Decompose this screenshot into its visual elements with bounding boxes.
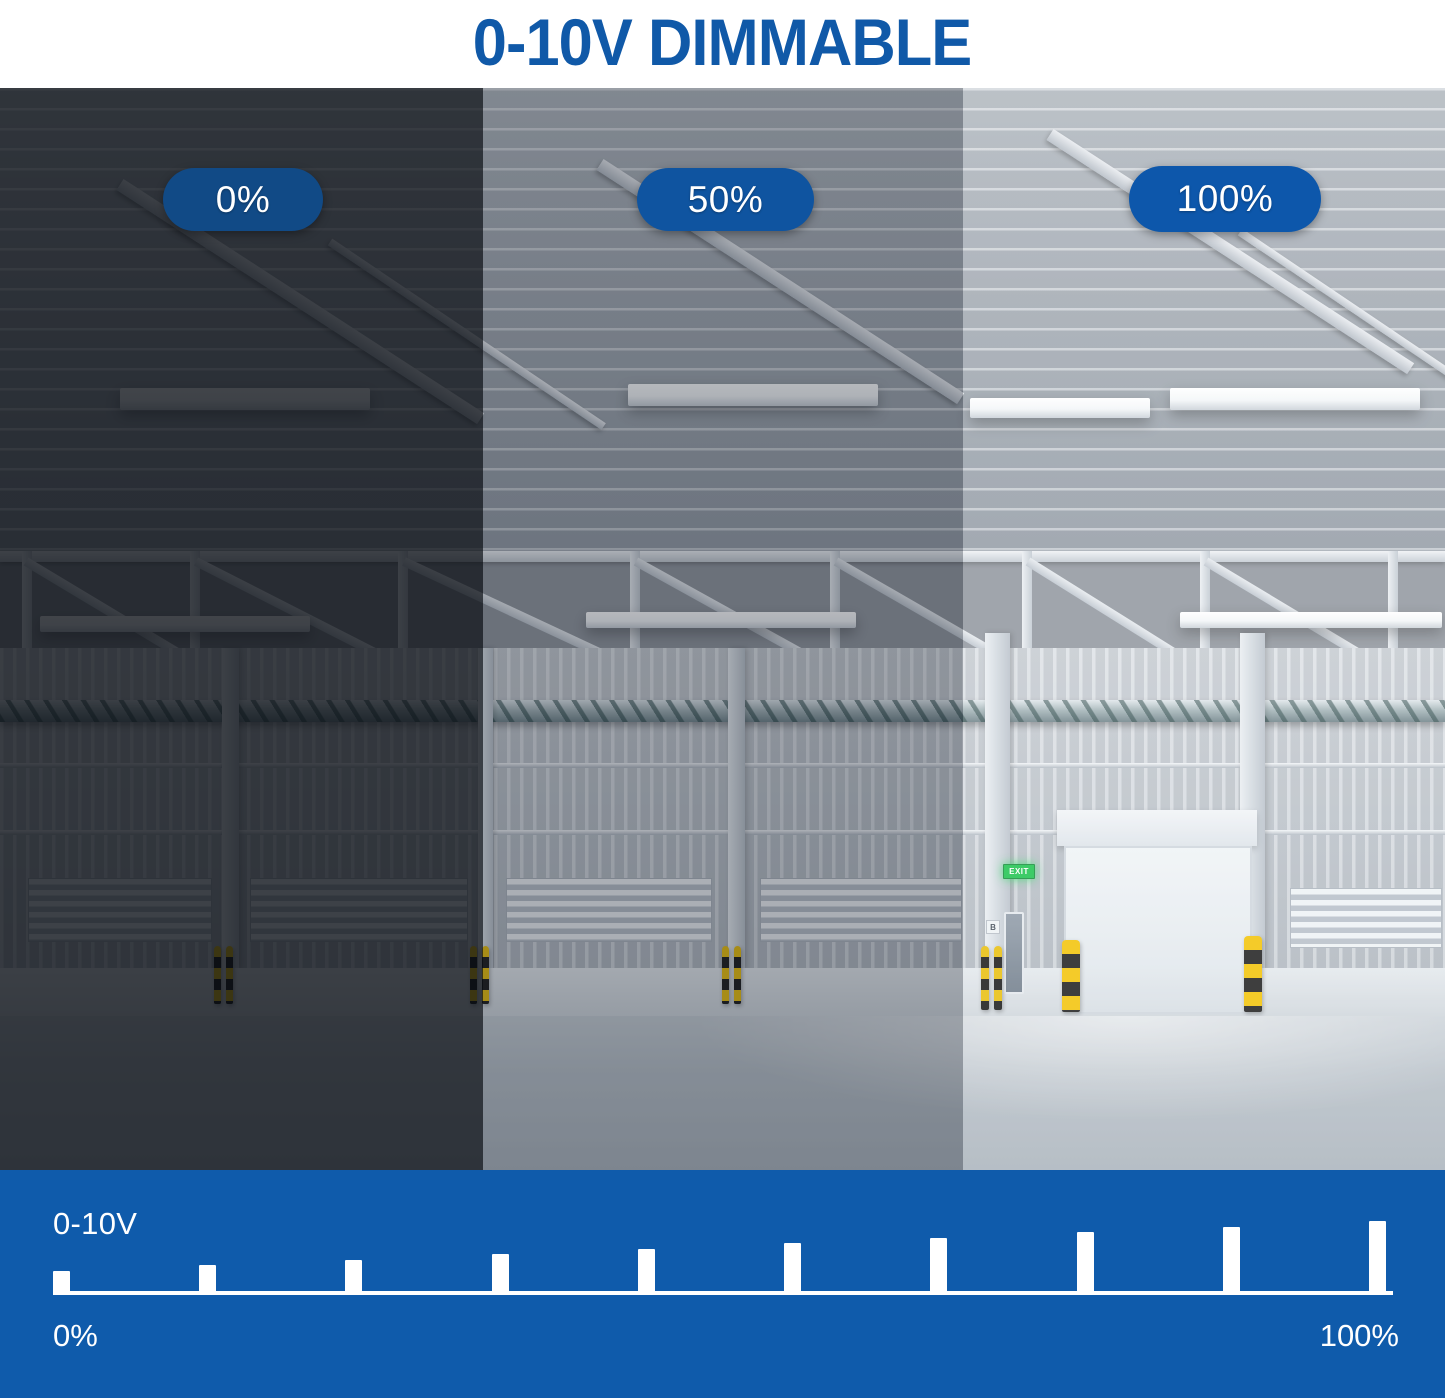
safety-bollard bbox=[722, 946, 729, 1004]
safety-bollard bbox=[734, 946, 741, 1004]
truss-chord bbox=[0, 551, 1445, 562]
floor-light-reflection bbox=[0, 1016, 1445, 1170]
structural-column bbox=[222, 648, 239, 970]
safety-bollard bbox=[981, 946, 989, 1010]
structural-column bbox=[728, 648, 745, 970]
led-fixture bbox=[586, 612, 856, 628]
ceiling-deck bbox=[0, 88, 1445, 558]
wall-rail bbox=[0, 763, 1445, 768]
wall-louver-panel bbox=[506, 878, 712, 942]
brightness-badge-100[interactable]: 100% bbox=[1129, 166, 1321, 232]
led-fixture bbox=[628, 384, 878, 406]
header-bar: 0-10V DIMMABLE bbox=[0, 0, 1445, 88]
structural-column bbox=[478, 648, 493, 970]
dock-roll-up-door bbox=[1064, 846, 1252, 1014]
scale-baseline bbox=[53, 1291, 1393, 1295]
tray-hatching bbox=[0, 700, 1445, 722]
scale-tick bbox=[1223, 1227, 1240, 1294]
badge-label: 100% bbox=[1177, 178, 1274, 220]
warehouse-scene: EXIT B bbox=[0, 88, 1445, 1170]
page-title: 0-10V DIMMABLE bbox=[473, 9, 972, 75]
scale-tick bbox=[1369, 1221, 1386, 1293]
badge-label: 50% bbox=[688, 179, 764, 221]
scale-tick bbox=[1077, 1232, 1094, 1293]
scale-max-label: 100% bbox=[1320, 1318, 1399, 1354]
wall-louver-panel bbox=[28, 878, 212, 942]
safety-bollard bbox=[482, 946, 489, 1004]
wall-louver-panel bbox=[760, 878, 962, 942]
badge-label: 0% bbox=[216, 179, 270, 221]
scale-title: 0-10V bbox=[53, 1206, 137, 1242]
truss-post bbox=[1388, 551, 1398, 659]
scale-tick bbox=[53, 1271, 70, 1294]
brightness-badge-50[interactable]: 50% bbox=[637, 168, 814, 231]
led-fixture bbox=[40, 616, 310, 632]
scale-tick bbox=[784, 1243, 801, 1293]
brightness-badge-0[interactable]: 0% bbox=[163, 168, 323, 231]
overhead-cable-tray bbox=[0, 700, 1445, 722]
scale-tick bbox=[930, 1238, 947, 1294]
safety-bollard bbox=[1062, 940, 1080, 1012]
wall-louver-panel bbox=[250, 878, 468, 942]
exit-sign: EXIT bbox=[1003, 864, 1035, 879]
scale-tick bbox=[492, 1254, 509, 1293]
safety-bollard bbox=[226, 946, 233, 1004]
dimmable-product-graphic: 0-10V DIMMABLE bbox=[0, 0, 1445, 1398]
door-sign: B bbox=[986, 920, 1000, 934]
scale-tick bbox=[199, 1265, 216, 1293]
safety-bollard bbox=[470, 946, 477, 1004]
led-fixture bbox=[1180, 612, 1442, 628]
personnel-door bbox=[1004, 912, 1024, 994]
scale-tick bbox=[638, 1249, 655, 1294]
scale-min-label: 0% bbox=[53, 1318, 98, 1354]
led-fixture bbox=[120, 388, 370, 410]
wall-louver-panel bbox=[1290, 888, 1442, 948]
led-fixture bbox=[970, 398, 1150, 418]
safety-bollard bbox=[214, 946, 221, 1004]
safety-bollard bbox=[994, 946, 1002, 1010]
safety-bollard bbox=[1244, 936, 1262, 1012]
scale-tick bbox=[345, 1260, 362, 1294]
dock-door-header bbox=[1057, 810, 1257, 846]
scene-artwork: EXIT B bbox=[0, 88, 1445, 1170]
led-fixture bbox=[1170, 388, 1420, 410]
exit-sign-label: EXIT bbox=[1009, 867, 1029, 876]
